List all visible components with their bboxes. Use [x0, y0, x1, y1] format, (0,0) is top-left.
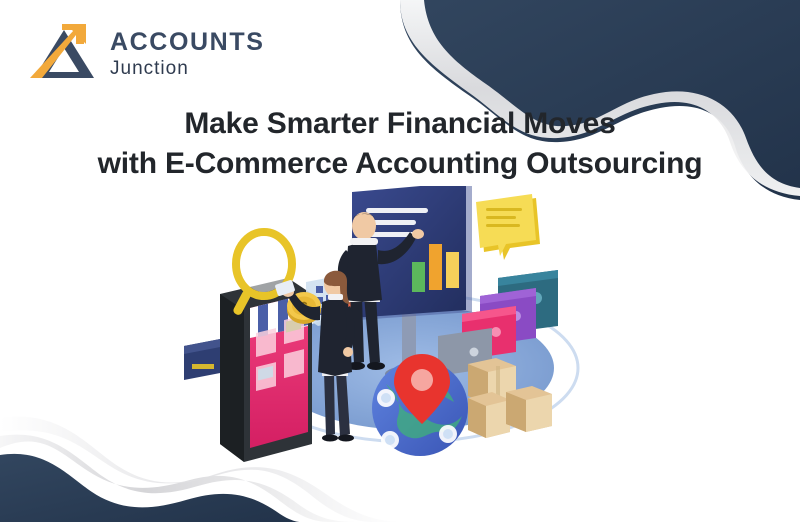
marketing-banner: ACCOUNTS Junction Make Smarter Financial… — [0, 0, 800, 522]
page-title: Make Smarter Financial Moves with E-Comm… — [0, 104, 800, 184]
bar-green — [412, 262, 425, 292]
headline-line-1: Make Smarter Financial Moves — [0, 104, 800, 144]
text-line-1 — [366, 208, 428, 213]
bar-yellow — [446, 252, 459, 288]
bar-orange — [429, 244, 442, 290]
logo-title: ACCOUNTS — [110, 30, 264, 55]
logo[interactable]: ACCOUNTS Junction — [24, 22, 264, 84]
hero-illustration: $ — [180, 186, 640, 476]
product-card-1 — [256, 328, 276, 357]
logo-mark-icon — [24, 22, 100, 84]
product-card-4 — [284, 349, 304, 378]
tablet-frame-side — [220, 294, 244, 462]
speech-bubble — [476, 194, 540, 260]
logo-subtitle: Junction — [110, 59, 264, 78]
logo-wordmark: ACCOUNTS Junction — [110, 28, 264, 78]
headline-line-2: with E-Commerce Accounting Outsourcing — [0, 144, 800, 184]
